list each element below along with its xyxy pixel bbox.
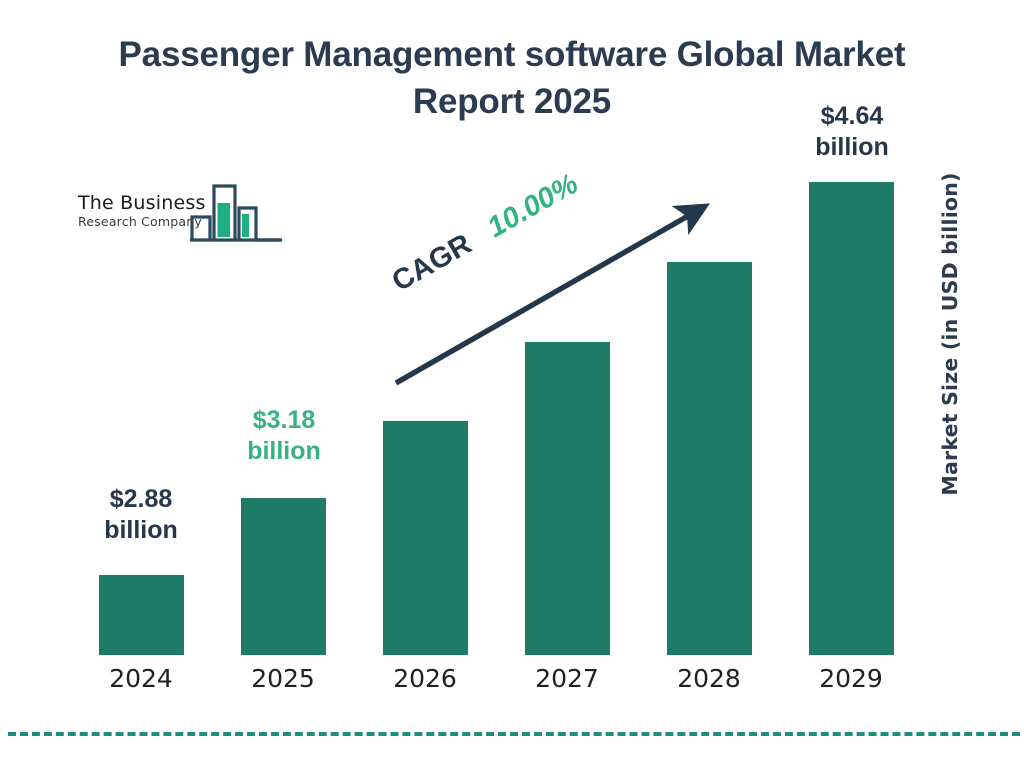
- x-tick-2024: 2024: [81, 664, 201, 693]
- x-tick-2029: 2029: [791, 664, 911, 693]
- growth-arrow-icon: [0, 0, 1024, 768]
- bottom-divider: [8, 732, 1020, 736]
- x-tick-2026: 2026: [365, 664, 485, 693]
- x-tick-2027: 2027: [507, 664, 627, 693]
- chart-canvas: Passenger Management software Global Mar…: [0, 0, 1024, 768]
- plot-area: $2.88 billion $3.18 billion $4.64 billio…: [0, 0, 1024, 768]
- x-tick-2025: 2025: [223, 664, 343, 693]
- x-tick-2028: 2028: [649, 664, 769, 693]
- y-axis-title: Market Size (in USD billion): [938, 164, 962, 504]
